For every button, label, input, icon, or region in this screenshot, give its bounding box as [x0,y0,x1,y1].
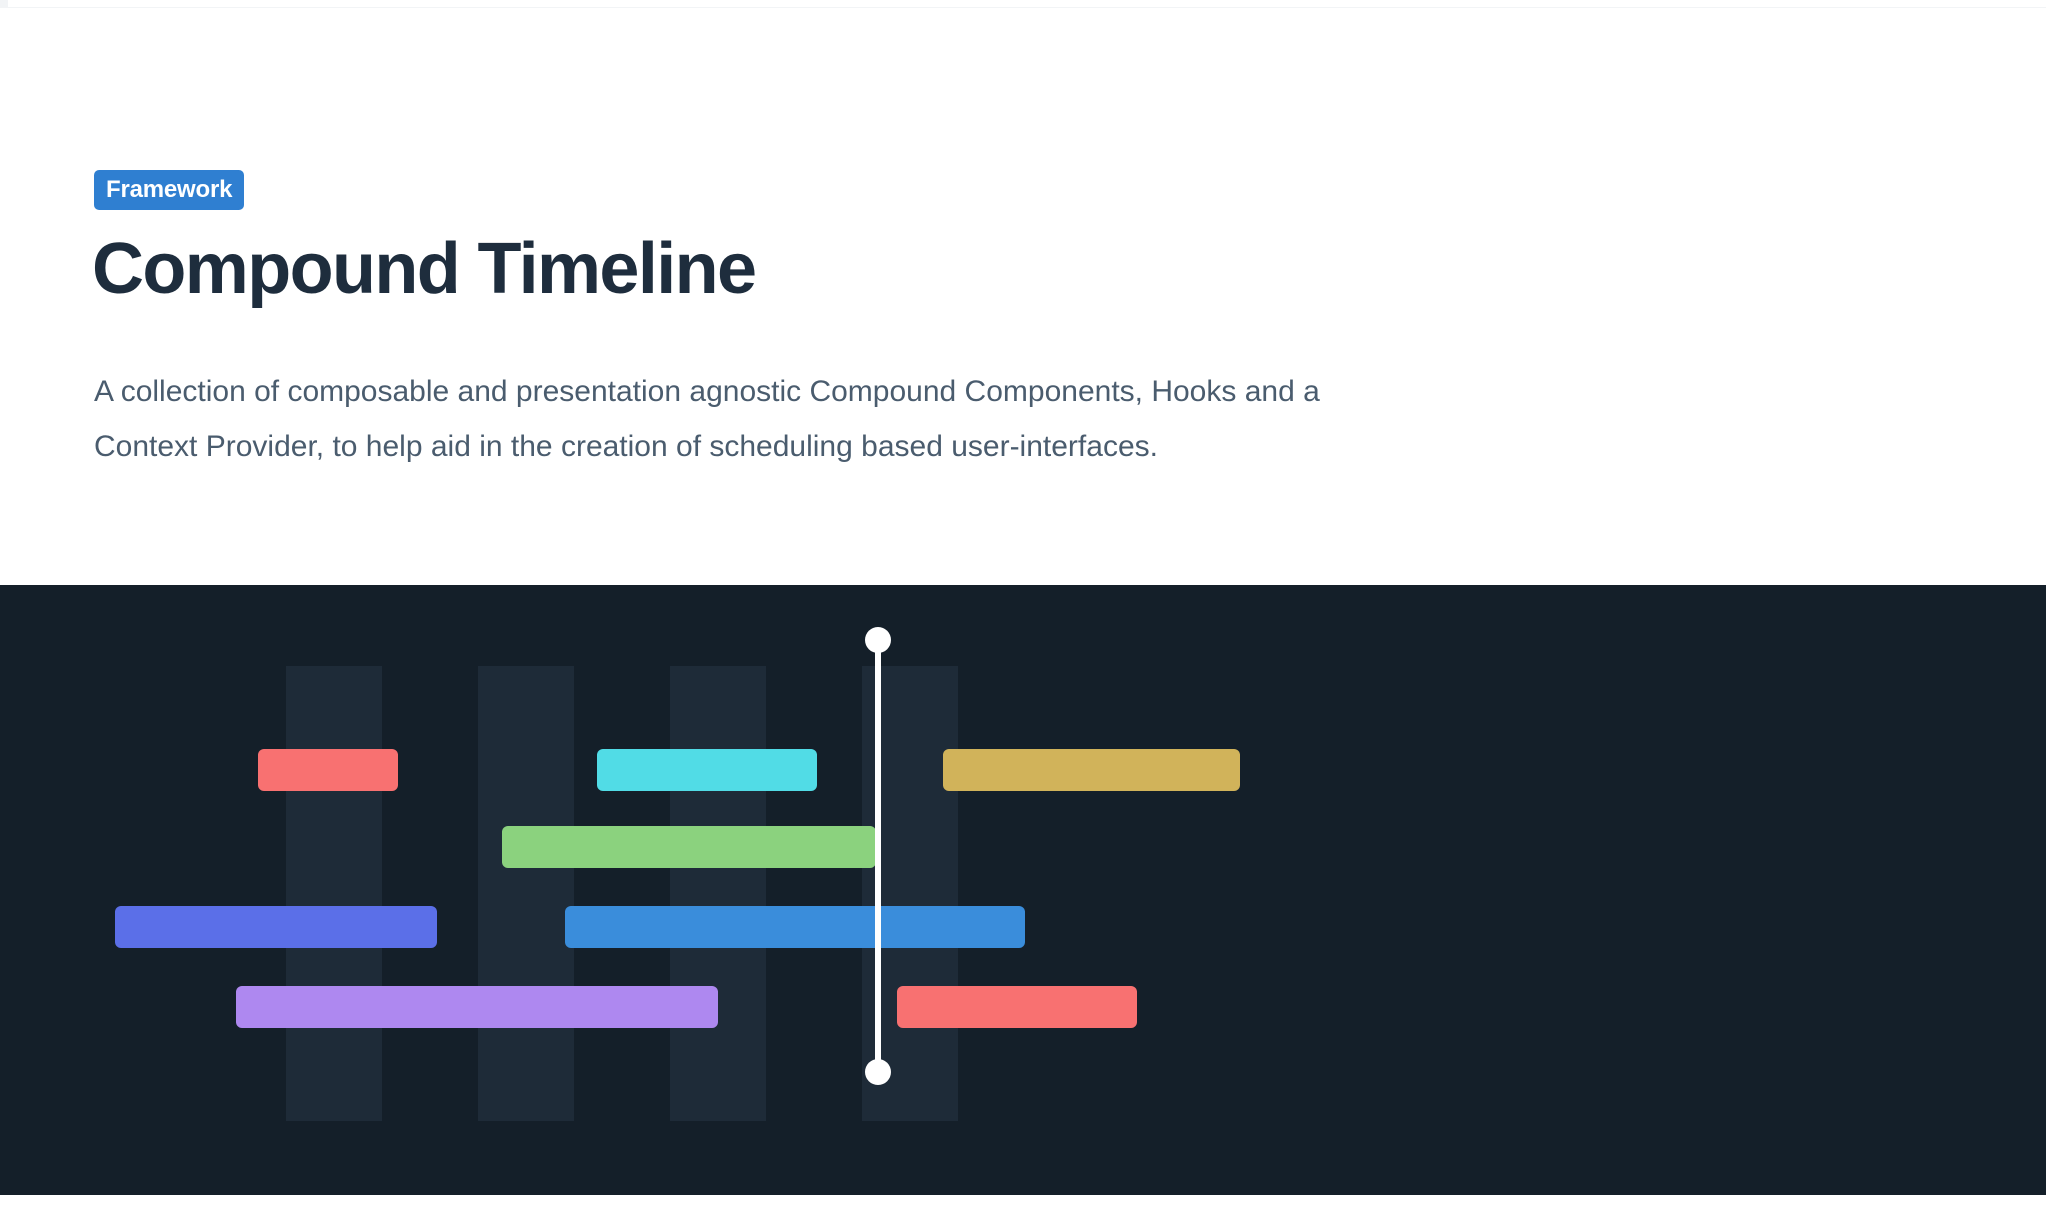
column-band-3 [670,666,766,1121]
top-edge-strip [0,0,2046,8]
timeline-panel [0,585,2046,1195]
event-bar-green-1[interactable] [502,826,876,868]
timeline-marker-line[interactable] [875,640,881,1072]
framework-badge: Framework [94,170,244,210]
event-bar-blue-1[interactable] [565,906,1025,948]
page-subtitle: A collection of composable and presentat… [94,364,1594,474]
event-bar-indigo-1[interactable] [115,906,437,948]
timeline-marker-handle-top[interactable] [865,627,891,653]
event-bar-red-2[interactable] [897,986,1137,1028]
column-band-1 [286,666,382,1121]
event-bar-purple-1[interactable] [236,986,718,1028]
event-bar-gold-1[interactable] [943,749,1240,791]
hero-section: Framework Compound Timeline A collection… [0,8,2046,585]
column-band-2 [478,666,574,1121]
top-edge-strip-inner [8,0,2046,7]
page-subtitle-line-1: A collection of composable and presentat… [94,364,1594,419]
page-title: Compound Timeline [92,233,755,306]
event-bar-red-1[interactable] [258,749,398,791]
page-subtitle-line-2: Context Provider, to help aid in the cre… [94,419,1594,474]
panel-bottom-edge [0,1195,2046,1210]
event-bar-cyan-1[interactable] [597,749,817,791]
timeline-marker-handle-bottom[interactable] [865,1059,891,1085]
